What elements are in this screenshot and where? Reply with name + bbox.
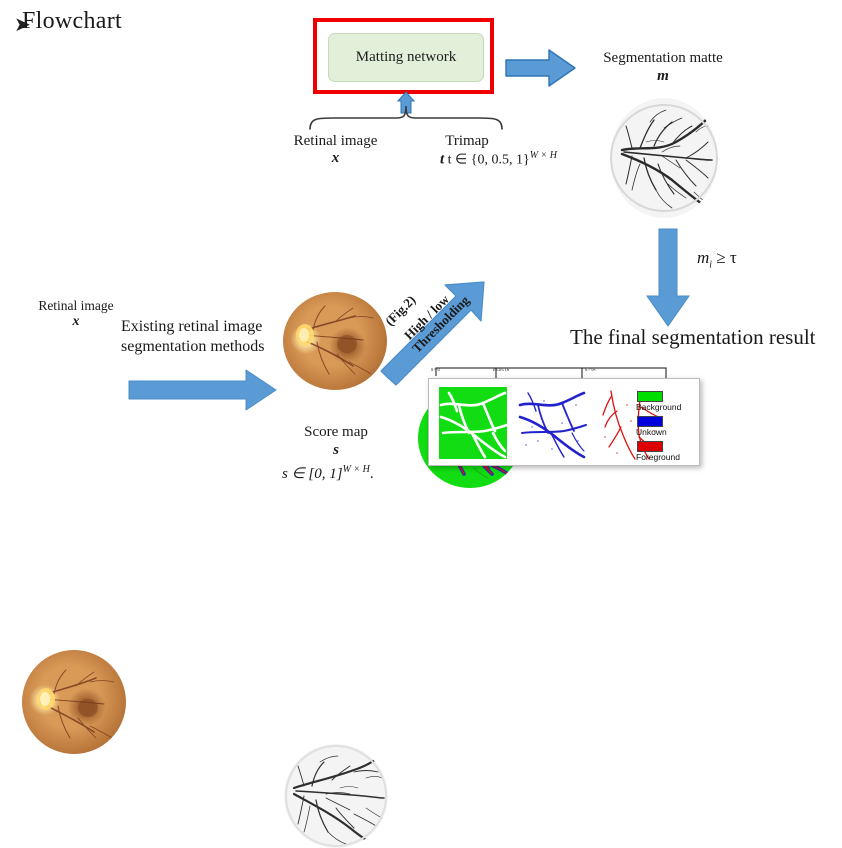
matting-network-highlight-box: Matting network [313, 18, 494, 94]
fig2-panel: Background Unkown Foreground [428, 378, 700, 466]
retinal-image-top [283, 292, 387, 390]
brace-inputs [308, 104, 504, 130]
retinal-image-left-symbol: x [20, 314, 132, 330]
legend-swatch-background [637, 391, 663, 402]
trimap-label: Trimap [412, 133, 522, 150]
trimap-formula-exponent: W × H [530, 150, 557, 161]
fig2-brace-label-2: s>τₕ [585, 366, 596, 373]
retinal-image-left [22, 650, 126, 754]
score-map-symbol: s [276, 442, 396, 459]
segmentation-matte-label: Segmentation matte [583, 50, 743, 67]
legend-label-background: Background [636, 402, 681, 412]
retinal-image-top-label: Retinal image [268, 133, 403, 150]
matte-condition-rest: ≥ τ [712, 248, 737, 267]
matte-threshold-condition: mi ≥ τ [697, 248, 737, 270]
page-title: Flowchart [22, 8, 122, 35]
score-map-vessels [284, 744, 388, 848]
arrow-matte-to-result [646, 228, 690, 328]
final-result-title: The final segmentation result [570, 325, 816, 350]
score-map-formula: s ∈ [0, 1]W × H. [282, 464, 374, 483]
existing-methods-label-line1: Existing retinal image [121, 318, 262, 336]
trimap-formula: t t ∈ {0, 0.5, 1}W × H [440, 150, 557, 169]
score-map-formula-exponent: W × H [343, 464, 370, 475]
segmentation-matte-symbol: m [583, 68, 743, 85]
legend-swatch-foreground [637, 441, 663, 452]
fundus-vessels-top [283, 292, 387, 390]
matte-condition-m: m [697, 248, 709, 267]
segmentation-matte-image [610, 98, 718, 218]
legend-swatch-unknown [637, 416, 663, 427]
arrow-matting-to-matte [505, 48, 577, 88]
score-map-formula-suffix: . [370, 466, 374, 482]
trimap-formula-prefix: t ∈ {0, 0.5, 1} [448, 153, 530, 168]
score-map-label: Score map [276, 424, 396, 441]
score-map-image [284, 744, 388, 848]
trimap-symbol: t [440, 152, 444, 168]
fundus-vessels-left [22, 650, 126, 754]
score-map-formula-symbol: s ∈ [0, 1] [282, 466, 343, 482]
fig2-background-vessels [439, 387, 507, 459]
retinal-image-top-symbol: x [268, 150, 403, 167]
fig2-tile-background [439, 387, 507, 459]
legend-label-foreground: Foreground [636, 452, 680, 462]
arrow-retinal-to-scoremap [128, 368, 278, 412]
fig2-brace-label-0: s<τₗ [431, 366, 440, 373]
legend-label-unknown: Unkown [636, 427, 667, 437]
fig2-brace-label-1: τₗ≤s≤τₕ [492, 366, 509, 373]
existing-methods-label-line2: segmentation methods [121, 338, 265, 356]
matting-network-node[interactable]: Matting network [328, 33, 484, 82]
fig2-unknown-vessels [518, 387, 586, 459]
retinal-image-left-label: Retinal image [20, 298, 132, 314]
fig2-tile-unknown [518, 387, 586, 459]
matte-vessel-tree [610, 98, 718, 218]
